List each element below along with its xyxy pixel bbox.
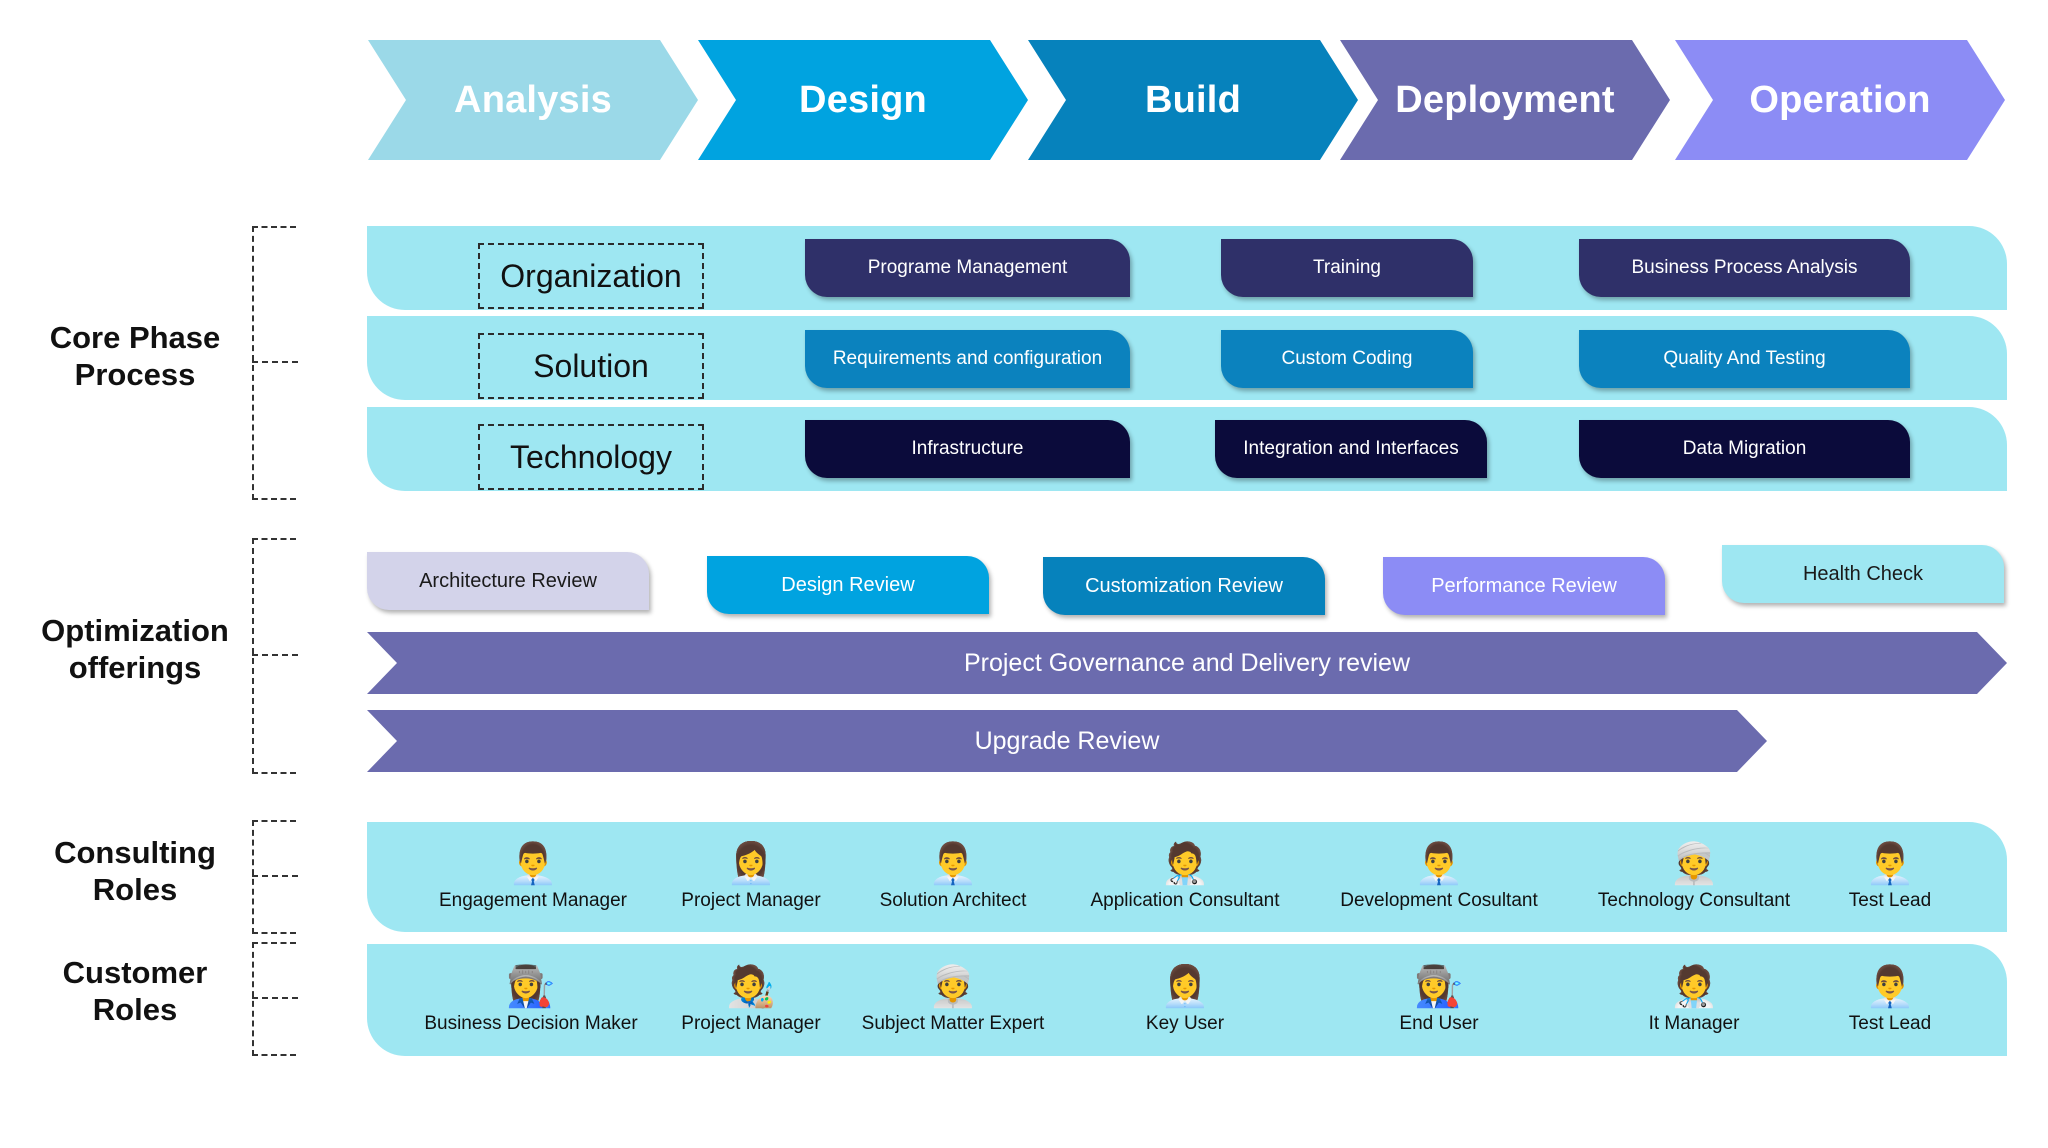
customer-role-item[interactable]: 👨‍💼Test Lead	[1849, 944, 1931, 1056]
person-icon: 🧑‍⚕️	[1160, 842, 1210, 886]
phase-chevron-operation[interactable]: Operation	[1675, 40, 2005, 160]
person-icon: 👨‍💼	[1414, 842, 1464, 886]
consulting-role-item[interactable]: 👳Technology Consultant	[1598, 822, 1790, 932]
core-row-label-technology: Technology	[478, 424, 704, 490]
consulting-role-label: Application Consultant	[1090, 890, 1279, 912]
customer-roles-bar: 👩‍🏭Business Decision Maker🧑‍🎨Project Man…	[367, 944, 2007, 1056]
phase-chevron-analysis[interactable]: Analysis	[368, 40, 698, 160]
consulting-role-item[interactable]: 👨‍💼Solution Architect	[880, 822, 1027, 932]
core-pill-requirements-and-configuration[interactable]: Requirements and configuration	[805, 330, 1130, 388]
person-icon: 👳	[928, 965, 978, 1009]
bracket-customer	[252, 942, 296, 1056]
bracket-optimization	[252, 538, 296, 774]
customer-role-label: Project Manager	[681, 1013, 820, 1035]
customer-role-label: Subject Matter Expert	[862, 1013, 1045, 1035]
section-label-core-phase-process: Core Phase Process	[10, 320, 260, 393]
core-pill-data-migration[interactable]: Data Migration	[1579, 420, 1910, 478]
customer-role-item[interactable]: 🧑‍⚕️It Manager	[1649, 944, 1740, 1056]
consulting-role-label: Technology Consultant	[1598, 890, 1790, 912]
core-row-label-organization: Organization	[478, 243, 704, 309]
consulting-role-item[interactable]: 🧑‍⚕️Application Consultant	[1090, 822, 1279, 932]
core-row-label-solution: Solution	[478, 333, 704, 399]
consulting-role-item[interactable]: 👨‍💼Engagement Manager	[439, 822, 627, 932]
core-pill-quality-and-testing[interactable]: Quality And Testing	[1579, 330, 1910, 388]
customer-role-item[interactable]: 👩‍🏭Business Decision Maker	[424, 944, 637, 1056]
core-pill-custom-coding[interactable]: Custom Coding	[1221, 330, 1473, 388]
consulting-role-item[interactable]: 👨‍💼Test Lead	[1849, 822, 1931, 932]
ribbon-project-governance-and-delivery-review[interactable]: Project Governance and Delivery review	[367, 632, 2007, 694]
person-icon: 👩‍💼	[726, 842, 776, 886]
diagram-canvas: Analysis Design Build Deployment Operati…	[0, 0, 2048, 1148]
bracket-stub-core-phase	[252, 361, 298, 363]
consulting-role-label: Development Cosultant	[1340, 890, 1538, 912]
person-icon: 🧑‍🎨	[726, 965, 776, 1009]
section-label-consulting-roles: Consulting Roles	[10, 835, 260, 908]
bracket-stub-consulting	[252, 875, 298, 877]
customer-role-label: End User	[1399, 1013, 1478, 1035]
core-pill-business-process-analysis[interactable]: Business Process Analysis	[1579, 239, 1910, 297]
customer-role-item[interactable]: 🧑‍🎨Project Manager	[681, 944, 820, 1056]
review-chip-health-check[interactable]: Health Check	[1722, 545, 2004, 603]
review-chip-architecture-review[interactable]: Architecture Review	[367, 552, 649, 610]
customer-role-label: Key User	[1146, 1013, 1224, 1035]
bracket-consulting	[252, 820, 296, 934]
section-label-optimization-offerings: Optimization offerings	[10, 613, 260, 686]
core-pill-programe-management[interactable]: Programe Management	[805, 239, 1130, 297]
customer-role-item[interactable]: 👳Subject Matter Expert	[862, 944, 1045, 1056]
phase-chevron-deployment[interactable]: Deployment	[1340, 40, 1670, 160]
consulting-role-label: Solution Architect	[880, 890, 1027, 912]
phase-chevron-label: Design	[799, 79, 927, 122]
person-icon: 👨‍💼	[928, 842, 978, 886]
consulting-role-item[interactable]: 👨‍💼Development Cosultant	[1340, 822, 1538, 932]
review-chip-performance-review[interactable]: Performance Review	[1383, 557, 1665, 615]
phase-chevron-label: Build	[1145, 79, 1241, 122]
section-label-customer-roles: Customer Roles	[10, 955, 260, 1028]
customer-role-item[interactable]: 👩‍💼Key User	[1146, 944, 1224, 1056]
core-pill-training[interactable]: Training	[1221, 239, 1473, 297]
bracket-stub-optimization	[252, 654, 298, 656]
consulting-role-label: Engagement Manager	[439, 890, 627, 912]
phase-chevron-label: Operation	[1749, 79, 1930, 122]
customer-role-label: Test Lead	[1849, 1013, 1931, 1035]
consulting-roles-bar: 👨‍💼Engagement Manager👩‍💼Project Manager👨…	[367, 822, 2007, 932]
ribbon-upgrade-review[interactable]: Upgrade Review	[367, 710, 1767, 772]
consulting-role-label: Project Manager	[681, 890, 820, 912]
person-icon: 👩‍💼	[1160, 965, 1210, 1009]
review-chip-customization-review[interactable]: Customization Review	[1043, 557, 1325, 615]
customer-role-item[interactable]: 👩‍🏭End User	[1399, 944, 1478, 1056]
person-icon: 👩‍🏭	[1414, 965, 1464, 1009]
person-icon: 👳	[1669, 842, 1719, 886]
consulting-role-label: Test Lead	[1849, 890, 1931, 912]
phase-chevron-design[interactable]: Design	[698, 40, 1028, 160]
customer-role-label: Business Decision Maker	[424, 1013, 637, 1035]
person-icon: 👨‍💼	[508, 842, 558, 886]
core-pill-integration-and-interfaces[interactable]: Integration and Interfaces	[1215, 420, 1487, 478]
review-chip-design-review[interactable]: Design Review	[707, 556, 989, 614]
person-icon: 🧑‍⚕️	[1669, 965, 1719, 1009]
bracket-stub-customer	[252, 997, 298, 999]
person-icon: 👩‍🏭	[506, 965, 556, 1009]
core-pill-infrastructure[interactable]: Infrastructure	[805, 420, 1130, 478]
phase-chevron-label: Deployment	[1395, 79, 1614, 122]
customer-role-label: It Manager	[1649, 1013, 1740, 1035]
bracket-core-phase	[252, 226, 296, 500]
phase-chevron-label: Analysis	[454, 79, 612, 122]
consulting-role-item[interactable]: 👩‍💼Project Manager	[681, 822, 820, 932]
person-icon: 👨‍💼	[1865, 965, 1915, 1009]
person-icon: 👨‍💼	[1865, 842, 1915, 886]
phase-chevron-build[interactable]: Build	[1028, 40, 1358, 160]
